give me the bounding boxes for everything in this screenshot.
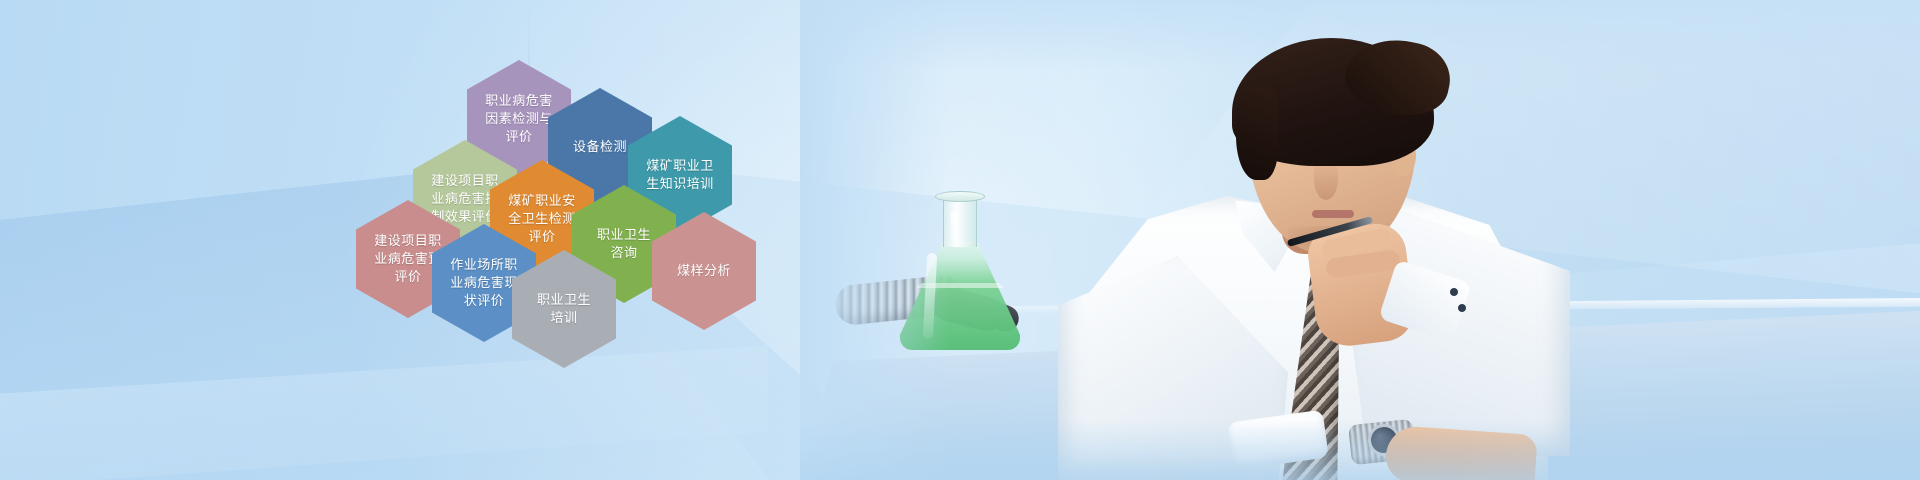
hex-label: 煤样分析 xyxy=(661,262,747,280)
hex-label: 煤矿职业卫生知识培训 xyxy=(637,157,723,193)
hex-label: 职业卫生培训 xyxy=(521,291,607,327)
service-hexagon-cluster: 职业病危害因素检测与评价 建设项目职业病危害控制效果评价 设备检测 煤矿职业卫生… xyxy=(340,60,760,350)
hero-banner: 职业病危害因素检测与评价 建设项目职业病危害控制效果评价 设备检测 煤矿职业卫生… xyxy=(0,0,1920,480)
